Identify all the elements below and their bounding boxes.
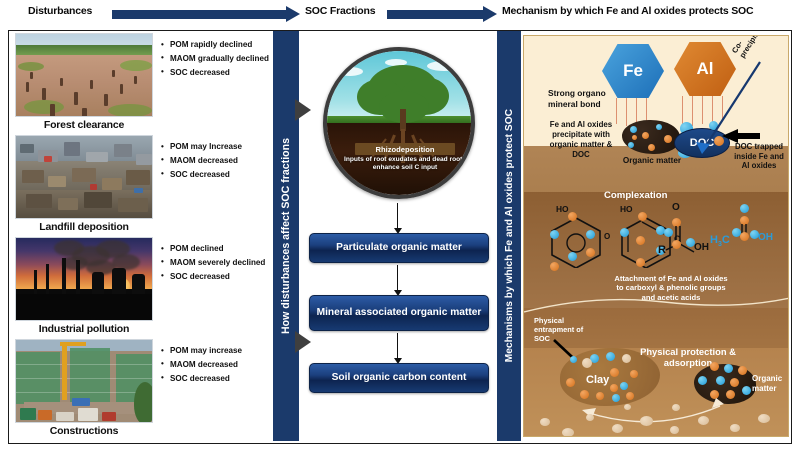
disturbance-bullets: POM may Increase MAOM decreased SOC decr… (161, 141, 273, 183)
bullet-item: MAOM decreased (161, 155, 273, 166)
header-arrow-1 (112, 9, 300, 20)
flow-arrow-1 (397, 203, 398, 229)
cycle-arrows (524, 36, 789, 437)
bullet-item: POM declined (161, 243, 273, 254)
disturbance-caption: Constructions (15, 425, 153, 437)
bullet-item: SOC decreased (161, 67, 273, 78)
axis-label-disturbances: How disturbances affect SOC fractions (273, 31, 299, 441)
soc-fractions-column: Rhizodeposition Inputs of root exudates … (301, 31, 497, 441)
bullet-item: SOC decreased (161, 169, 273, 180)
disturbance-caption: Industrial pollution (15, 323, 153, 335)
bullet-item: MAOM decreased (161, 359, 273, 370)
constructions-photo (15, 339, 153, 423)
disturbance-caption: Landfill deposition (15, 221, 153, 233)
header-stage1-label: Disturbances (28, 5, 92, 17)
bullet-item: SOC decreased (161, 373, 273, 384)
disturbance-caption: Forest clearance (15, 119, 153, 131)
header-arrow-2 (387, 9, 497, 20)
connector-arrow-bottom (295, 331, 311, 353)
disturbance-bullets: POM declined MAOM severely declined SOC … (161, 243, 273, 285)
header-stage3-label: Mechanism by which Fe and Al oxides prot… (502, 5, 753, 17)
soc-box-label: Soil organic carbon content (332, 372, 467, 384)
landfill-deposition-photo (15, 135, 153, 219)
rhizodeposition-tag: Rhizodeposition (355, 143, 455, 155)
header-stage2-label: SOC Fractions (305, 5, 375, 17)
disturbance-row-industrial-pollution: Industrial pollution POM declined MAOM s… (15, 237, 271, 337)
soc-box-soil-organic-carbon-content[interactable]: Soil organic carbon content (309, 363, 489, 393)
bullet-item: MAOM severely declined (161, 257, 273, 268)
soc-box-label: Mineral associated organic matter (317, 307, 482, 319)
soc-box-particulate-organic-matter[interactable]: Particulate organic matter (309, 233, 489, 263)
forest-clearance-photo (15, 33, 153, 117)
bullet-item: POM may increase (161, 345, 273, 356)
disturbance-row-forest-clearance: Forest clearance POM rapidly declined MA… (15, 33, 271, 133)
bullet-item: SOC decreased (161, 271, 273, 282)
mechanisms-illustration: Fe Al Strong organo mineral bond Fe (523, 35, 789, 437)
disturbance-row-landfill-deposition: Landfill deposition POM may Increase MAO… (15, 135, 271, 235)
mechanisms-column: Fe Al Strong organo mineral bond Fe (501, 31, 791, 441)
bullet-item: POM may Increase (161, 141, 273, 152)
disturbance-row-constructions: Constructions POM may increase MAOM decr… (15, 339, 271, 439)
axis-label-disturbances-text: How disturbances affect SOC fractions (280, 138, 292, 334)
bullet-item: POM rapidly declined (161, 39, 273, 50)
industrial-pollution-photo (15, 237, 153, 321)
infographic-root: Disturbances SOC Fractions Mechanism by … (0, 0, 800, 450)
soc-box-label: Particulate organic matter (336, 242, 462, 254)
stage-header: Disturbances SOC Fractions Mechanism by … (0, 0, 800, 28)
rhizodeposition-circle: Rhizodeposition Inputs of root exudates … (323, 47, 475, 199)
disturbances-column: Forest clearance POM rapidly declined MA… (9, 31, 271, 441)
disturbance-bullets: POM may increase MAOM decreased SOC decr… (161, 345, 273, 387)
flow-arrow-2 (397, 265, 398, 291)
flow-arrow-3 (397, 333, 398, 359)
diagram-frame: Forest clearance POM rapidly declined MA… (8, 30, 792, 444)
disturbance-bullets: POM rapidly declined MAOM gradually decl… (161, 39, 273, 81)
connector-arrow-top (295, 99, 311, 121)
bullet-item: MAOM gradually declined (161, 53, 273, 64)
rhizodeposition-description: Inputs of root exudates and dead roots e… (341, 156, 469, 173)
soc-box-mineral-associated-organic-matter[interactable]: Mineral associated organic matter (309, 295, 489, 331)
